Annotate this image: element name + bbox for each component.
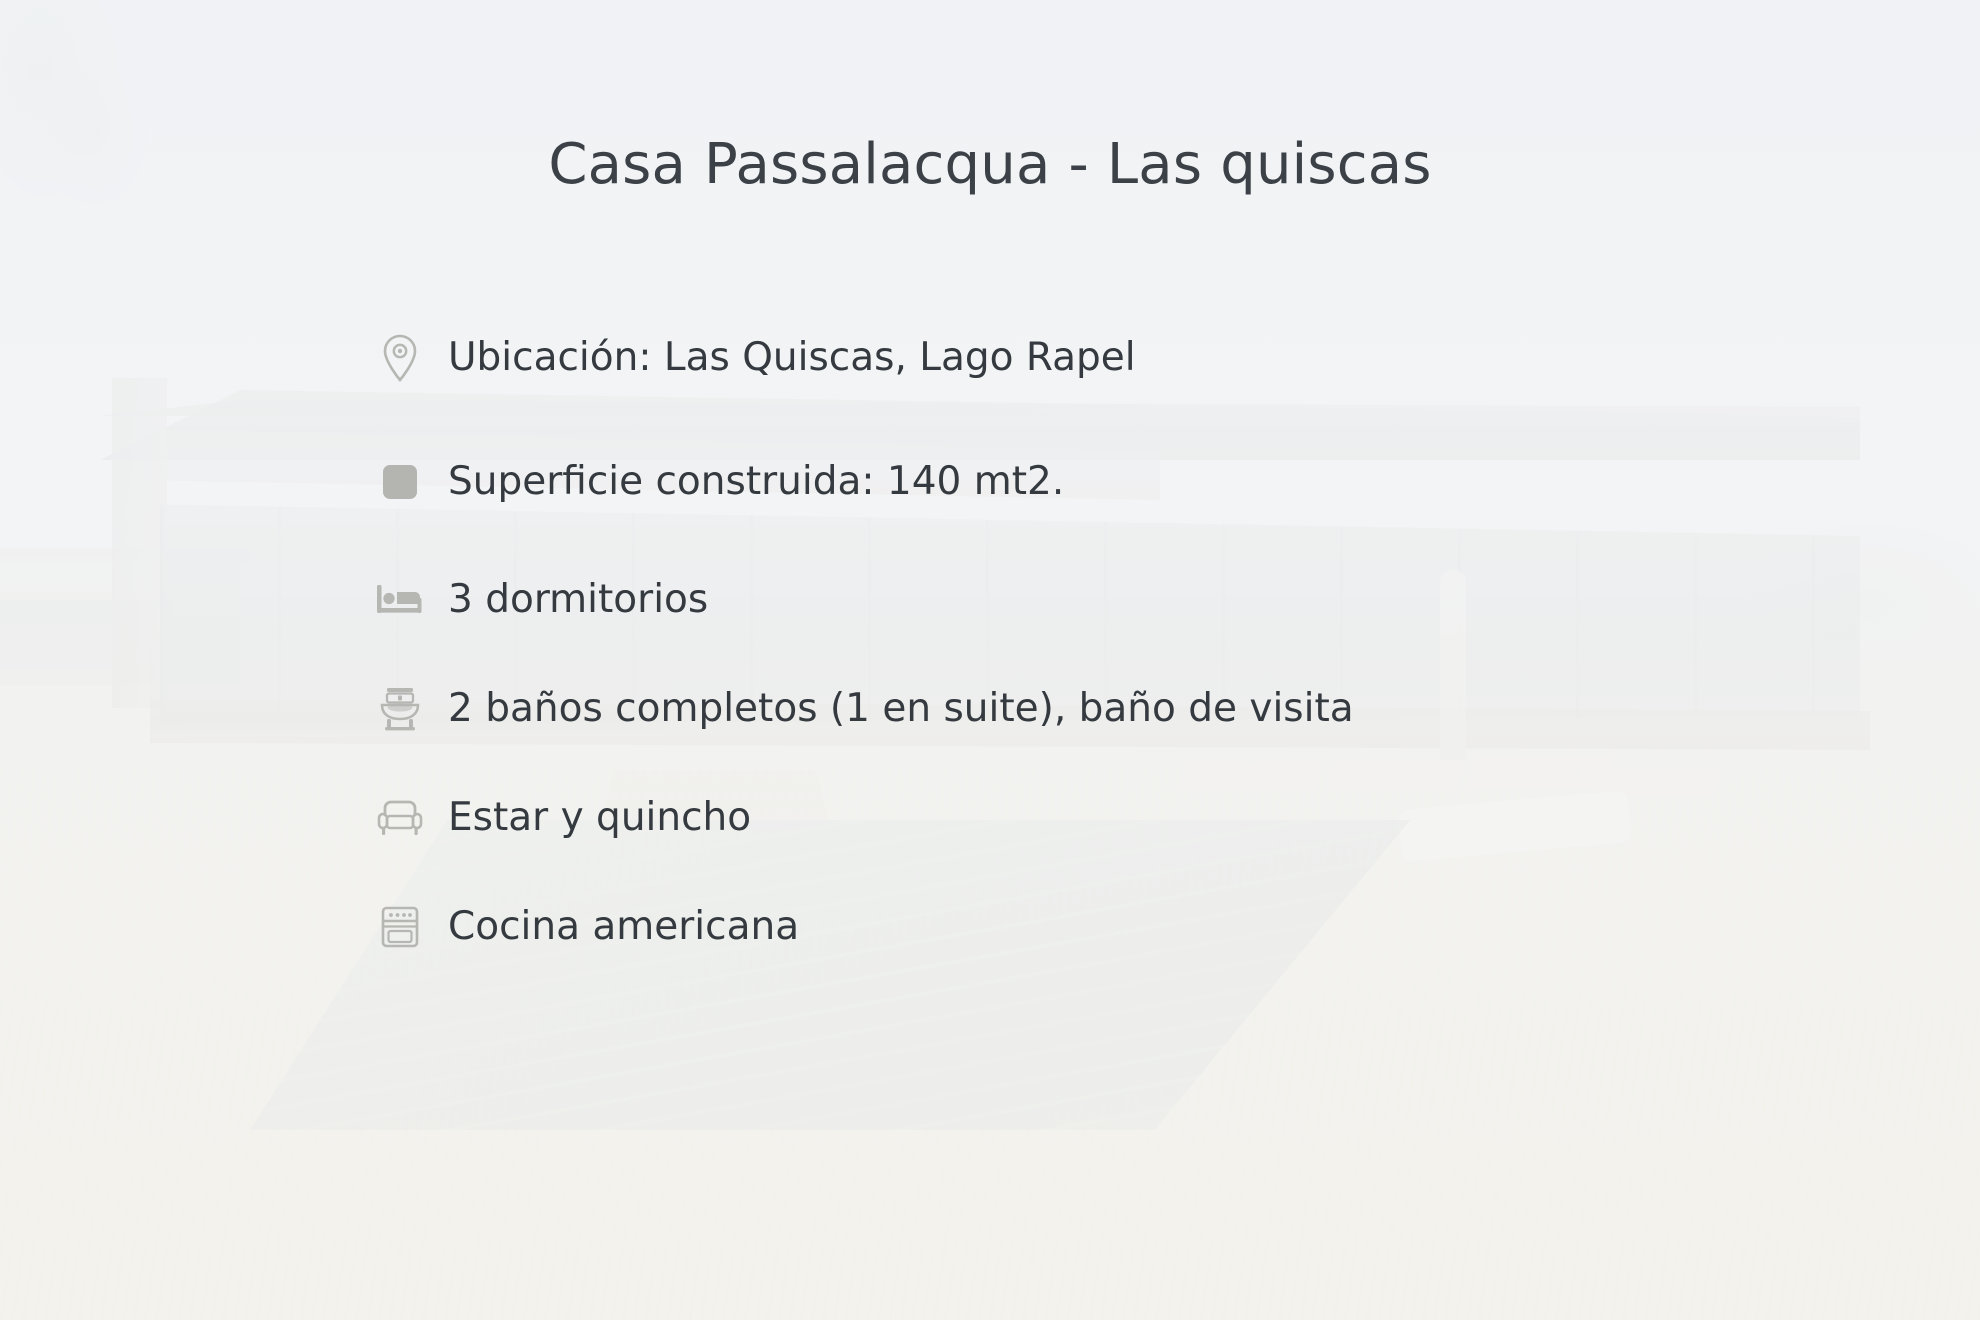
- bed-icon: [374, 574, 426, 626]
- list-item-ubicacion: Ubicación: Las Quiscas, Lago Rapel: [374, 318, 1854, 398]
- slide-content: Casa Passalacqua - Las quiscas Ubicación…: [0, 0, 1980, 1320]
- list-item-label: 3 dormitorios: [448, 580, 708, 621]
- oven-stove-icon: [374, 901, 426, 953]
- list-item-cocina: Cocina americana: [374, 887, 1854, 967]
- list-item-banos: 2 baños completos (1 en suite), baño de …: [374, 669, 1854, 749]
- square-area-icon: [374, 456, 426, 508]
- feature-list: Ubicación: Las Quiscas, Lago Rapel Super…: [374, 318, 1854, 996]
- list-item-label: Cocina americana: [448, 907, 799, 948]
- page-title: Casa Passalacqua - Las quiscas: [0, 132, 1980, 197]
- list-item-superficie: Superficie construida: 140 mt2.: [374, 442, 1854, 522]
- list-item-dormitorios: 3 dormitorios: [374, 560, 1854, 640]
- list-item-label: 2 baños completos (1 en suite), baño de …: [448, 689, 1354, 730]
- list-item-estar: Estar y quincho: [374, 778, 1854, 858]
- list-item-label: Superficie construida: 140 mt2.: [448, 462, 1064, 503]
- list-item-label: Ubicación: Las Quiscas, Lago Rapel: [448, 338, 1136, 379]
- location-pin-icon: [374, 332, 426, 384]
- sofa-icon: [374, 792, 426, 844]
- toilet-icon: [374, 683, 426, 735]
- list-item-label: Estar y quincho: [448, 798, 751, 839]
- slide-root: Casa Passalacqua - Las quiscas Ubicación…: [0, 0, 1980, 1320]
